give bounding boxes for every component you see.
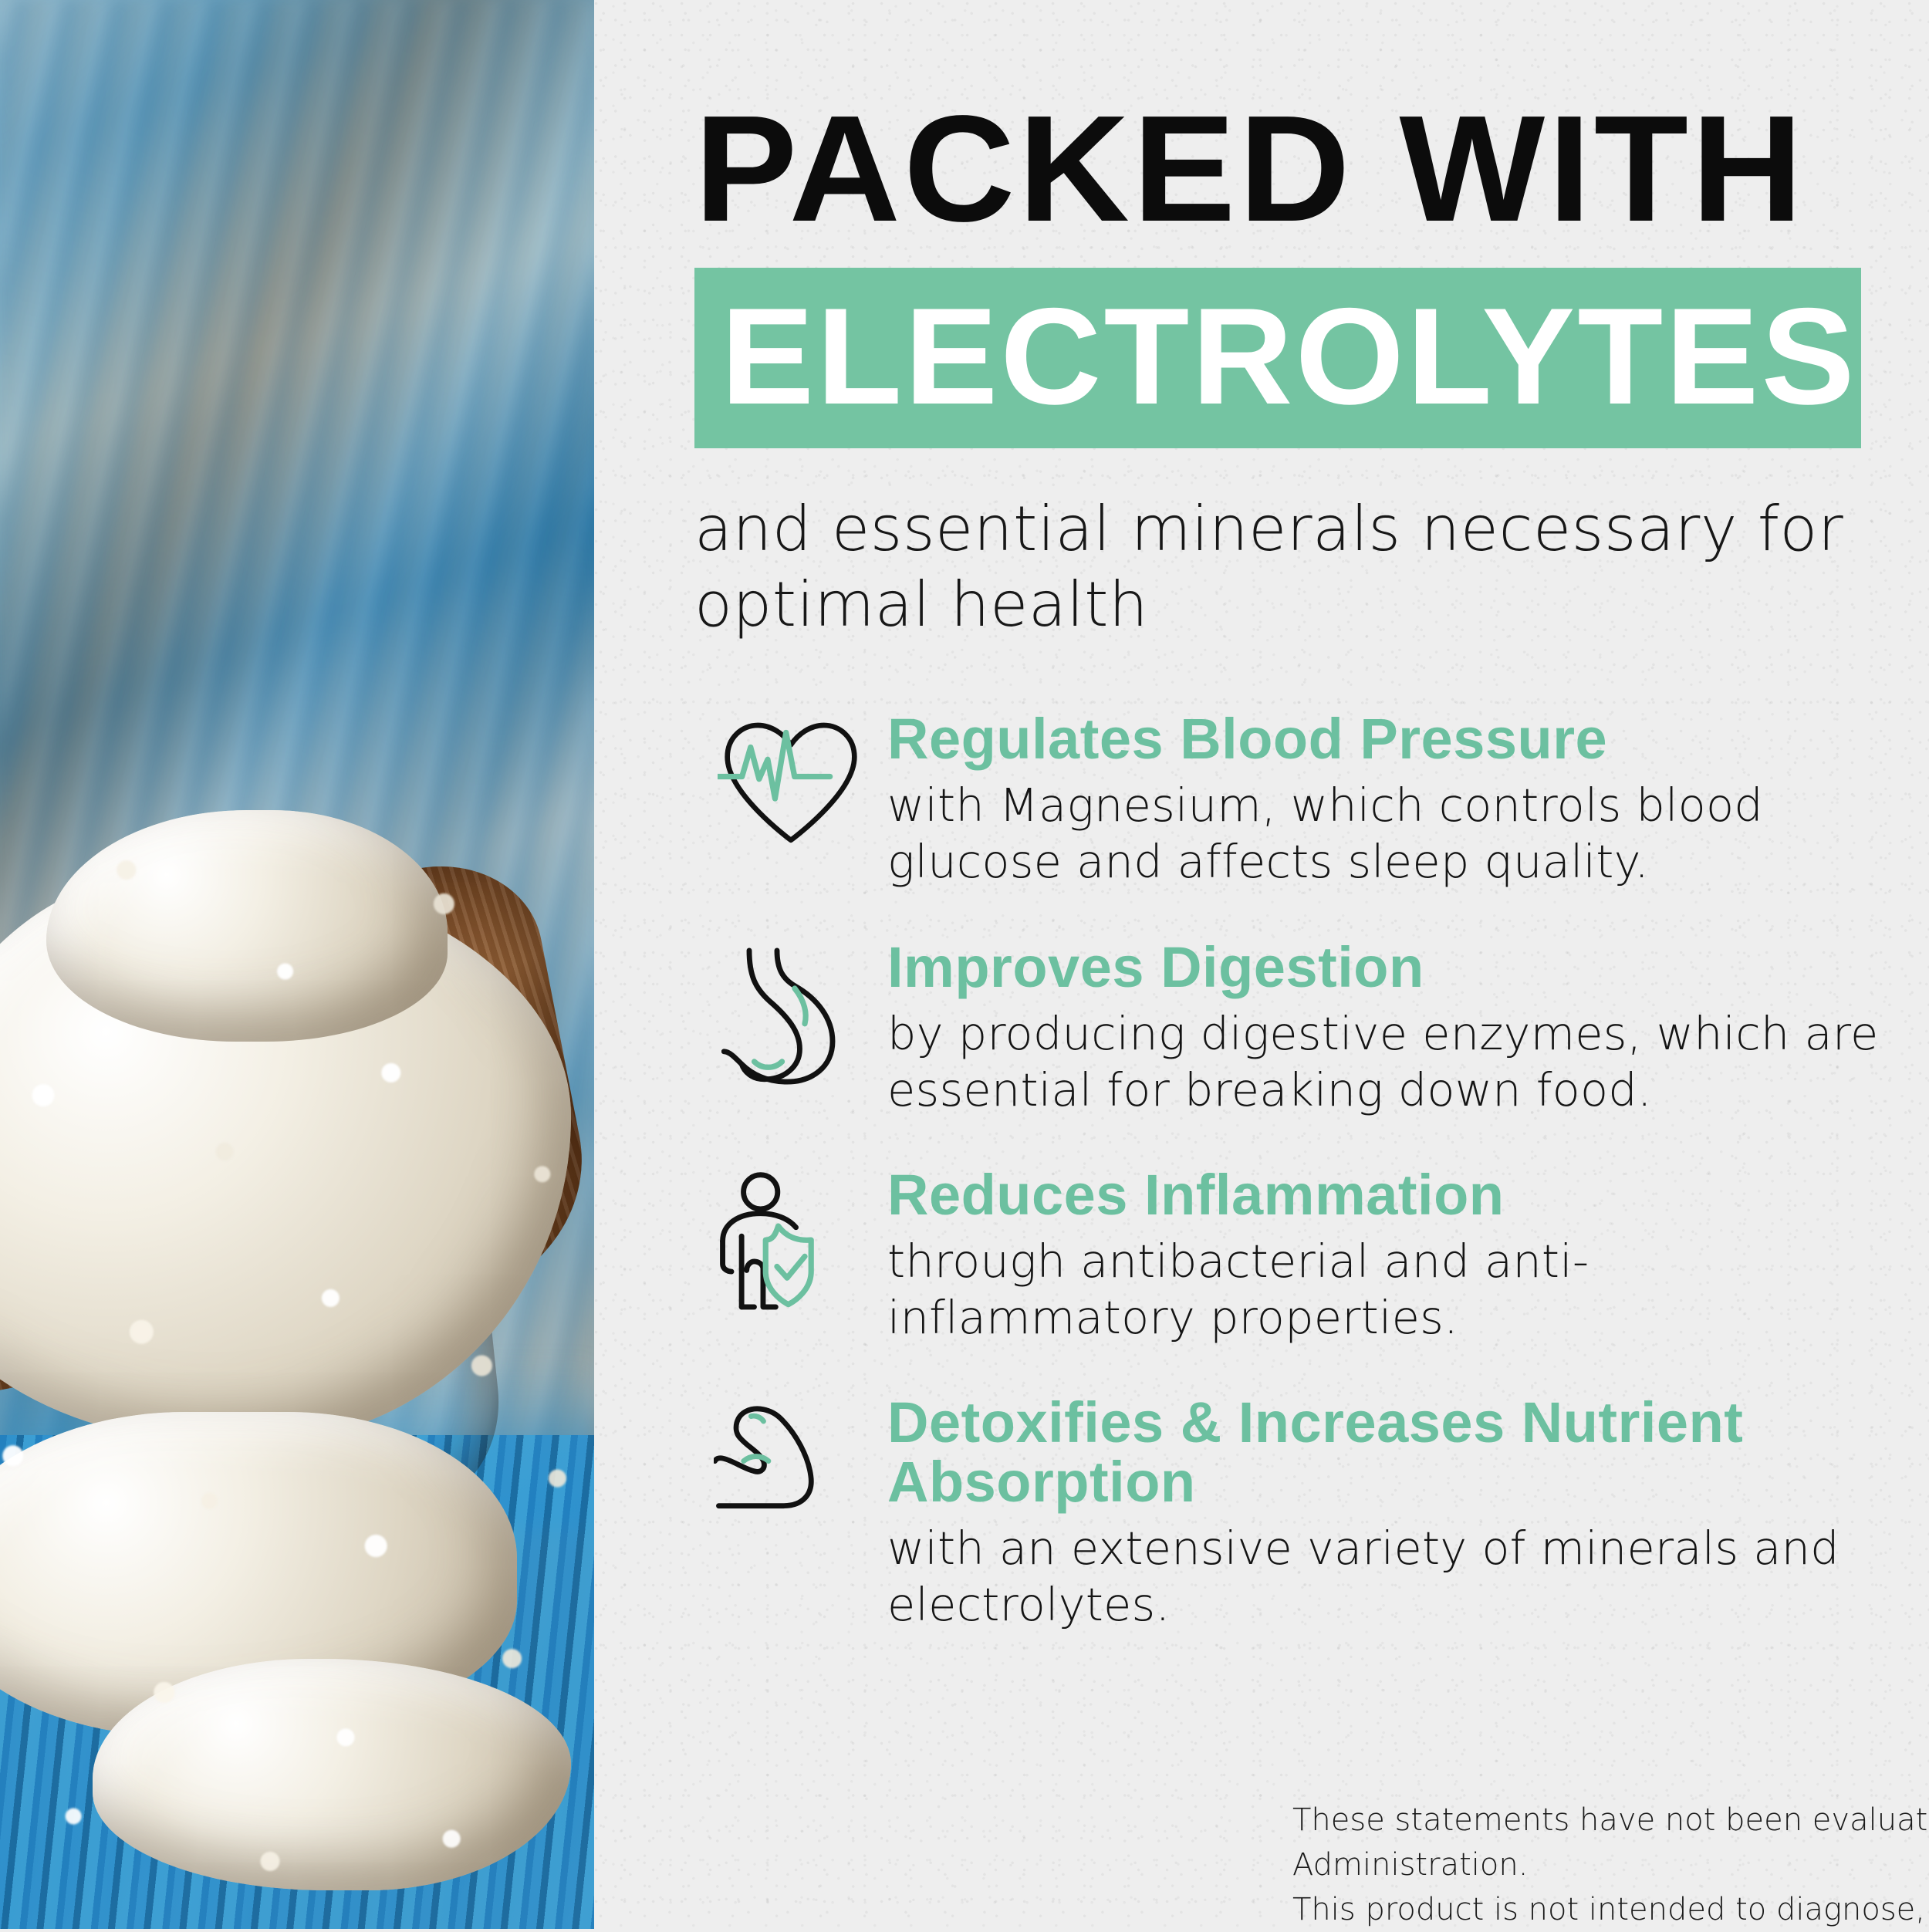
banner-word: ELECTROLYTES — [721, 288, 1857, 425]
list-item: Regulates Blood Pressure with Magnesium,… — [694, 710, 1929, 890]
benefit-text: through antibacterial and anti-inflammat… — [887, 1233, 1883, 1346]
electrolytes-banner: ELECTROLYTES — [694, 268, 1861, 448]
benefit-text: with an extensive variety of minerals an… — [887, 1520, 1883, 1633]
benefits-list: Regulates Blood Pressure with Magnesium,… — [694, 710, 1929, 1633]
benefit-body: Regulates Blood Pressure with Magnesium,… — [887, 710, 1929, 890]
benefit-title: Improves Digestion — [887, 938, 1883, 998]
benefit-title: Detoxifies & Increases Nutrient Absorpti… — [887, 1393, 1883, 1512]
benefit-text: by producing digestive enzymes, which ar… — [887, 1005, 1883, 1118]
benefit-body: Reduces Inflammation through antibacteri… — [887, 1166, 1929, 1346]
benefit-text: with Magnesium, which controls blood glu… — [887, 777, 1883, 890]
flexed-bicep-icon — [694, 1393, 887, 1522]
benefit-title: Reduces Inflammation — [887, 1166, 1883, 1225]
heart-pulse-icon — [694, 710, 887, 853]
infographic-poster: PACKED WITH ELECTROLYTES and essential m… — [0, 0, 1929, 1929]
content-panel: PACKED WITH ELECTROLYTES and essential m… — [594, 0, 1929, 1929]
subheading: and essential minerals necessary for opt… — [694, 491, 1898, 642]
page-title: PACKED WITH — [694, 0, 1929, 241]
disclaimer-line-1: These statements have not been evaluated… — [1292, 1798, 1929, 1887]
salt-crystals — [0, 802, 594, 1929]
benefit-body: Detoxifies & Increases Nutrient Absorpti… — [887, 1393, 1929, 1633]
person-shield-icon — [694, 1166, 887, 1317]
product-photo — [0, 0, 594, 1929]
list-item: Reduces Inflammation through antibacteri… — [694, 1166, 1929, 1346]
benefit-body: Improves Digestion by producing digestiv… — [887, 938, 1929, 1118]
disclaimer-line-2: This product is not intended to diagnose… — [1292, 1887, 1929, 1932]
list-item: Improves Digestion by producing digestiv… — [694, 938, 1929, 1118]
benefit-title: Regulates Blood Pressure — [887, 710, 1883, 769]
disclaimer: These statements have not been evaluated… — [1292, 1798, 1929, 1932]
stomach-icon — [694, 938, 887, 1089]
list-item: Detoxifies & Increases Nutrient Absorpti… — [694, 1393, 1929, 1633]
